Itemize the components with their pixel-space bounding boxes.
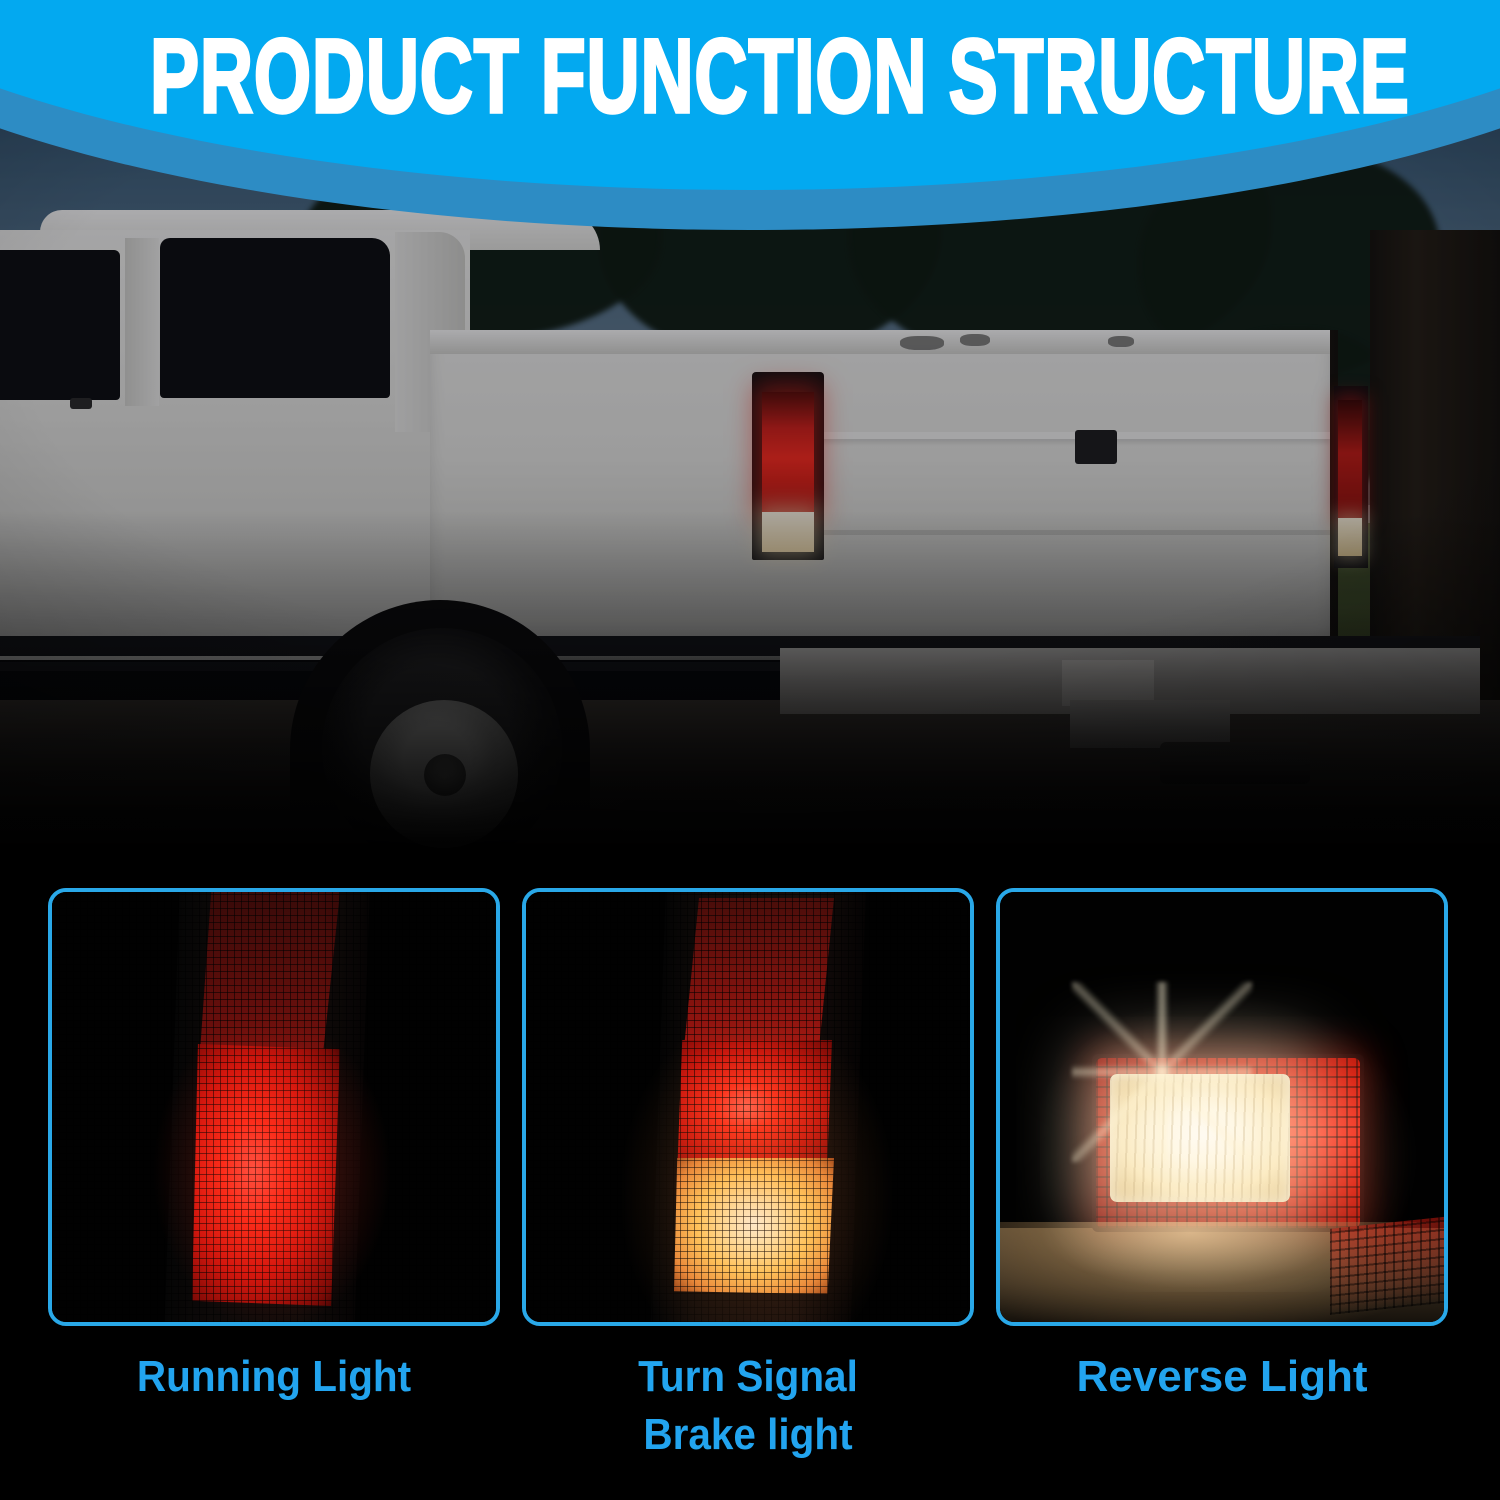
truck-bed	[430, 330, 1330, 660]
caption-turn-signal-brake-light: Turn Signal Brake light	[522, 1348, 974, 1464]
left-tail-light-white-lens	[762, 512, 814, 552]
exhaust-tailpipe	[1160, 742, 1310, 784]
page-title: PRODUCT FUNCTION STRUCTURE	[150, 24, 1350, 129]
right-tail-light-white-lens	[1338, 518, 1362, 556]
fuel-filler-door	[1075, 430, 1117, 464]
turn-signal-photo	[526, 892, 970, 1322]
truck-door-handle	[70, 398, 92, 409]
paint-chip	[1108, 336, 1134, 347]
header-arc: PRODUCT FUNCTION STRUCTURE	[0, 0, 1500, 190]
right-tail-light-red-lens	[1338, 400, 1362, 518]
pavement	[0, 700, 1500, 880]
reverse-light-photo	[1000, 892, 1444, 1322]
trailer-hitch	[1070, 700, 1230, 748]
caption-line: Turn Signal	[540, 1348, 956, 1406]
illuminated-amber-lens	[674, 1158, 834, 1294]
caption-running-light: Running Light	[48, 1348, 500, 1406]
caption-line: Running Light	[66, 1348, 482, 1406]
bed-body-line	[760, 530, 1330, 535]
panel-running-light[interactable]	[48, 888, 500, 1326]
wheel-hub	[424, 754, 466, 796]
product-function-structure-infographic: PRODUCT FUNCTION STRUCTURE	[0, 0, 1500, 1500]
running-light-photo	[52, 892, 496, 1322]
left-tail-light-red-lens	[762, 392, 814, 512]
caption-line: Brake light	[540, 1406, 956, 1464]
red-lens-reflection	[1330, 1215, 1448, 1315]
panel-captions: Running Light Turn Signal Brake light Re…	[0, 1348, 1500, 1500]
illuminated-red-lens	[192, 1044, 340, 1306]
exhaust-muffler	[620, 800, 740, 834]
upper-red-lens	[200, 892, 340, 1052]
illuminated-red-lens	[676, 1040, 832, 1162]
panel-reverse-light[interactable]	[996, 888, 1448, 1326]
caption-reverse-light: Reverse Light	[996, 1348, 1448, 1406]
feature-panel-row	[0, 888, 1500, 1338]
upper-red-lens	[684, 898, 834, 1048]
paint-chip	[900, 336, 944, 350]
panel-turn-signal-brake-light[interactable]	[522, 888, 974, 1326]
truck-bed-rail	[430, 330, 1330, 354]
illuminated-white-reverse-lens	[1110, 1074, 1290, 1202]
bed-body-line	[760, 432, 1330, 439]
caption-line: Reverse Light	[996, 1348, 1448, 1406]
paint-chip	[960, 334, 990, 346]
